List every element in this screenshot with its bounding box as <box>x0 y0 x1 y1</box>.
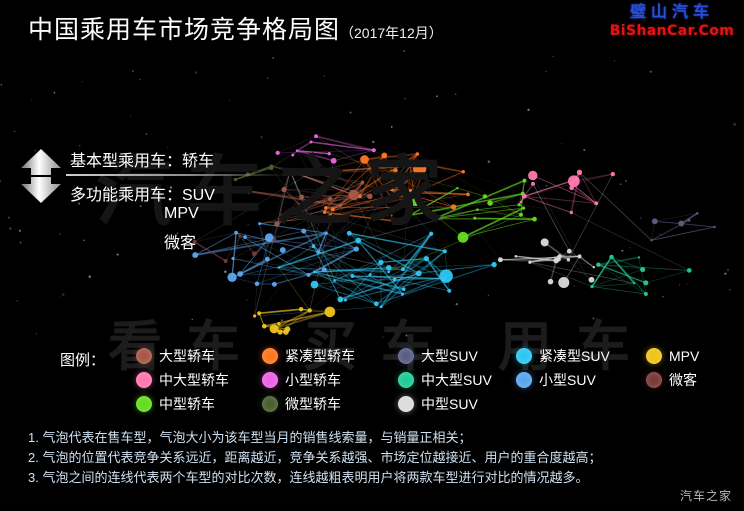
legend-item[interactable]: 中型轿车 <box>136 396 262 412</box>
legend-color-swatch <box>398 348 414 364</box>
legend-color-swatch <box>136 372 152 388</box>
scatter-node[interactable] <box>498 257 503 262</box>
background-speck <box>272 57 274 59</box>
scatter-node[interactable] <box>688 219 691 222</box>
axis-label-top: 基本型乘用车：轿车 <box>70 147 214 171</box>
scatter-node[interactable] <box>324 206 328 210</box>
legend-color-swatch <box>398 396 414 412</box>
scatter-node[interactable] <box>277 329 282 334</box>
background-speck <box>640 217 642 219</box>
legend-item[interactable]: 中大型SUV <box>398 372 516 388</box>
scatter-node[interactable] <box>361 181 365 185</box>
up-down-arrow-icon <box>18 148 64 204</box>
scatter-node[interactable] <box>408 214 412 218</box>
scatter-node[interactable] <box>387 271 390 274</box>
background-speck <box>0 180 1 182</box>
legend-item-label: 微型轿车 <box>285 396 341 412</box>
background-speck <box>89 276 91 278</box>
legend-item-label: 中大型SUV <box>421 372 492 388</box>
scatter-node[interactable] <box>409 194 421 206</box>
legend-item[interactable]: 紧凑型轿车 <box>262 348 398 364</box>
background-speck <box>224 270 226 272</box>
scatter-node[interactable] <box>558 277 569 288</box>
legend-item-label: 小型轿车 <box>285 372 341 388</box>
scatter-node[interactable] <box>439 269 453 283</box>
background-speck <box>488 295 489 296</box>
scatter-node[interactable] <box>461 170 464 173</box>
scatter-node[interactable] <box>331 207 335 211</box>
scatter-node[interactable] <box>227 273 236 282</box>
scatter-node[interactable] <box>644 292 648 296</box>
axis-label-microvan: 微客 <box>164 229 196 253</box>
footnotes: 1. 气泡代表在售车型，气泡大小为该车型当月的销售线索量，与销量正相关；2. 气… <box>28 428 728 488</box>
scatter-node[interactable] <box>355 238 361 244</box>
scatter-node[interactable] <box>590 285 593 288</box>
background-speck <box>372 141 374 143</box>
background-speck <box>546 185 548 187</box>
scatter-node[interactable] <box>325 307 336 318</box>
scatter-node[interactable] <box>314 134 318 138</box>
legend-item-label: 中大型轿车 <box>159 372 229 388</box>
background-speck <box>406 335 408 337</box>
background-speck <box>60 297 61 298</box>
legend-item[interactable]: 小型SUV <box>516 372 646 388</box>
background-speck <box>391 126 393 128</box>
background-speck <box>130 115 131 116</box>
scatter-node[interactable] <box>328 197 333 202</box>
scatter-node[interactable] <box>283 329 289 335</box>
background-speck <box>192 319 194 321</box>
scatter-node[interactable] <box>429 232 433 236</box>
background-speck <box>620 183 622 185</box>
background-speck <box>403 50 405 52</box>
scatter-node[interactable] <box>301 229 306 234</box>
background-speck <box>684 297 685 298</box>
background-speck <box>650 71 652 73</box>
page-title: 中国乘用车市场竞争格局图（2017年12月） <box>28 10 443 46</box>
background-speck <box>281 319 283 321</box>
legend-item-label: 中型轿车 <box>159 396 215 412</box>
scatter-node[interactable] <box>378 260 383 265</box>
legend: 图例： 大型轿车紧凑型轿车大型SUV紧凑型SUVMPV中大型轿车小型轿车中大型S… <box>60 344 740 418</box>
legend-item[interactable]: 紧凑型SUV <box>516 348 646 364</box>
background-speck <box>527 109 529 111</box>
scatter-node[interactable] <box>386 265 392 271</box>
background-speck <box>145 133 147 135</box>
scatter-node[interactable] <box>296 149 299 152</box>
legend-item[interactable]: 微型轿车 <box>262 396 398 412</box>
legend-color-swatch <box>516 372 532 388</box>
scatter-node[interactable] <box>522 207 525 210</box>
scatter-node[interactable] <box>650 239 652 241</box>
axis-label-mpv: MPV <box>164 205 199 223</box>
legend-item[interactable]: MPV <box>646 348 740 364</box>
scatter-node[interactable] <box>556 257 560 261</box>
legend-item[interactable]: 大型SUV <box>398 348 516 364</box>
background-speck <box>455 93 457 95</box>
legend-item-label: 中型SUV <box>421 396 478 412</box>
scatter-node[interactable] <box>528 171 537 180</box>
scatter-node[interactable] <box>262 324 267 329</box>
scatter-node[interactable] <box>523 179 527 183</box>
scatter-node[interactable] <box>388 194 394 200</box>
scatter-node[interactable] <box>633 282 635 284</box>
scatter-node[interactable] <box>405 191 409 195</box>
scatter-node[interactable] <box>518 203 521 206</box>
legend-color-swatch <box>262 372 278 388</box>
background-speck <box>596 203 598 205</box>
scatter-node[interactable] <box>369 273 372 276</box>
scatter-node[interactable] <box>255 281 260 286</box>
scatter-node[interactable] <box>611 172 615 176</box>
scatter-node[interactable] <box>596 263 600 267</box>
background-speck <box>139 79 140 80</box>
axis-annotation: 基本型乘用车：轿车 多功能乘用车：SUV MPV 微客 <box>18 143 288 255</box>
scatter-node[interactable] <box>531 182 535 186</box>
scatter-node[interactable] <box>491 262 496 267</box>
background-speck <box>583 149 585 151</box>
legend-color-swatch <box>398 372 414 388</box>
background-speck <box>195 71 197 73</box>
scatter-node[interactable] <box>328 214 333 219</box>
scatter-node[interactable] <box>253 314 256 317</box>
background-speck <box>81 81 82 82</box>
background-speck <box>382 336 384 338</box>
background-speck <box>295 182 296 183</box>
background-speck <box>553 56 554 57</box>
legend-color-swatch <box>646 372 662 388</box>
footnote-line: 3. 气泡之间的连线代表两个车型的对比次数，连线越粗表明用户将两款车型进行对比的… <box>28 468 728 488</box>
scatter-node[interactable] <box>519 213 523 217</box>
scatter-node[interactable] <box>324 231 328 235</box>
scatter-node[interactable] <box>652 218 658 224</box>
scatter-node[interactable] <box>643 280 648 285</box>
scatter-node[interactable] <box>393 168 398 173</box>
scatter-node[interactable] <box>541 238 549 246</box>
background-speck <box>561 143 562 144</box>
scatter-node[interactable] <box>638 256 640 258</box>
background-speck <box>1 84 3 86</box>
scatter-node[interactable] <box>567 258 570 261</box>
axis-label-bottom: 多功能乘用车：SUV <box>70 181 215 205</box>
background-speck <box>9 227 11 229</box>
legend-item-label: 紧凑型SUV <box>539 348 610 364</box>
scatter-node[interactable] <box>316 250 320 254</box>
scatter-node[interactable] <box>570 182 574 186</box>
scatter-node[interactable] <box>678 221 684 227</box>
background-speck <box>17 300 18 301</box>
legend-items: 大型轿车紧凑型轿车大型SUV紧凑型SUVMPV中大型轿车小型轿车中大型SUV小型… <box>136 344 740 416</box>
legend-item[interactable]: 微客 <box>646 372 740 388</box>
scatter-node[interactable] <box>640 267 645 272</box>
background-speck <box>324 75 325 76</box>
scatter-node[interactable] <box>476 208 479 211</box>
scatter-node[interactable] <box>331 158 337 164</box>
scatter-node[interactable] <box>391 188 394 191</box>
background-speck <box>35 333 37 335</box>
legend-color-swatch <box>646 348 662 364</box>
scatter-node[interactable] <box>589 277 595 283</box>
legend-item[interactable]: 中大型轿车 <box>136 372 262 388</box>
background-speck <box>456 303 458 305</box>
background-speck <box>662 296 663 297</box>
scatter-node[interactable] <box>409 189 412 192</box>
background-speck <box>401 294 403 296</box>
credit-label: 汽车之家 <box>680 487 732 504</box>
footnote-line: 1. 气泡代表在售车型，气泡大小为该车型当月的销售线索量，与销量正相关； <box>28 428 728 448</box>
background-speck <box>267 78 268 79</box>
scatter-node[interactable] <box>349 190 360 201</box>
background-speck <box>309 246 311 248</box>
scatter-node[interactable] <box>696 212 699 215</box>
scatter-node[interactable] <box>270 324 279 333</box>
background-speck <box>621 250 623 252</box>
scatter-node[interactable] <box>237 271 243 277</box>
scatter-node[interactable] <box>456 187 458 189</box>
scatter-node[interactable] <box>528 261 531 264</box>
scatter-node[interactable] <box>451 204 457 210</box>
scatter-node[interactable] <box>309 171 313 175</box>
scatter-node[interactable] <box>466 193 470 197</box>
background-speck <box>247 299 248 300</box>
scatter-node[interactable] <box>443 249 447 253</box>
background-speck <box>14 131 16 133</box>
scatter-node[interactable] <box>347 231 352 236</box>
legend-item[interactable]: 中型SUV <box>398 396 516 412</box>
scatter-node[interactable] <box>574 177 579 182</box>
page-title-text: 中国乘用车市场竞争格局图 <box>28 16 340 44</box>
background-speck <box>679 284 680 285</box>
scatter-node[interactable] <box>328 152 331 155</box>
scatter-node[interactable] <box>277 322 281 326</box>
legend-title: 图例： <box>60 349 105 370</box>
axis-divider-line <box>66 174 288 176</box>
legend-color-swatch <box>516 348 532 364</box>
scatter-node[interactable] <box>577 170 582 175</box>
scatter-node[interactable] <box>487 200 493 206</box>
scatter-node[interactable] <box>570 211 573 214</box>
legend-color-swatch <box>136 396 152 412</box>
scatter-node[interactable] <box>231 257 234 260</box>
scatter-node[interactable] <box>433 217 437 221</box>
background-speck <box>625 180 627 182</box>
background-speck <box>727 269 729 271</box>
scatter-node[interactable] <box>299 307 303 311</box>
scatter-node[interactable] <box>609 255 614 260</box>
background-speck <box>614 60 615 61</box>
background-speck <box>409 210 411 212</box>
scatter-node[interactable] <box>381 152 387 158</box>
background-speck <box>729 289 731 291</box>
background-speck <box>391 215 393 217</box>
scatter-node[interactable] <box>288 169 291 172</box>
background-speck <box>54 92 56 94</box>
legend-item-label: 紧凑型轿车 <box>285 348 355 364</box>
background-speck <box>733 123 736 126</box>
scatter-node[interactable] <box>567 249 572 254</box>
scatter-node[interactable] <box>257 311 261 315</box>
scatter-node[interactable] <box>351 274 355 278</box>
scatter-node[interactable] <box>360 155 369 164</box>
scatter-node[interactable] <box>311 281 319 289</box>
background-speck <box>436 95 438 97</box>
scatter-node[interactable] <box>298 203 302 207</box>
scatter-node[interactable] <box>337 296 343 302</box>
background-speck <box>260 136 263 139</box>
scatter-node[interactable] <box>442 277 446 281</box>
scatter-node[interactable] <box>473 217 476 220</box>
scatter-node[interactable] <box>310 141 313 144</box>
background-speck <box>325 211 326 212</box>
scatter-node[interactable] <box>367 194 373 200</box>
scatter-node[interactable] <box>380 305 383 308</box>
legend-item[interactable]: 大型轿车 <box>136 348 262 364</box>
scatter-node[interactable] <box>354 246 359 251</box>
background-speck <box>629 247 630 248</box>
background-speck <box>488 161 490 163</box>
scatter-node[interactable] <box>423 163 427 167</box>
scatter-node[interactable] <box>338 203 342 207</box>
legend-color-swatch <box>262 396 278 412</box>
scatter-node[interactable] <box>383 187 387 191</box>
scatter-node[interactable] <box>308 308 312 312</box>
scatter-node[interactable] <box>278 266 280 268</box>
scatter-node[interactable] <box>593 266 595 268</box>
chart-poster: 中国乘用车市场竞争格局图（2017年12月） 璧山汽车 BiShanCar.Co… <box>0 0 744 511</box>
legend-color-swatch <box>262 348 278 364</box>
scatter-node[interactable] <box>402 287 406 291</box>
scatter-node[interactable] <box>372 148 376 152</box>
scatter-node[interactable] <box>393 277 397 281</box>
scatter-node[interactable] <box>299 195 304 200</box>
background-speck <box>349 111 351 113</box>
scatter-node[interactable] <box>578 254 582 258</box>
background-speck <box>546 71 547 72</box>
scatter-node[interactable] <box>307 273 311 277</box>
legend-item-label: 小型SUV <box>539 372 596 388</box>
scatter-node[interactable] <box>272 282 277 287</box>
scatter-node[interactable] <box>522 194 527 199</box>
brand-name-en: BiShanCar.Com <box>606 22 738 40</box>
scatter-node[interactable] <box>318 190 324 196</box>
scatter-node[interactable] <box>322 267 327 272</box>
scatter-node[interactable] <box>424 256 429 261</box>
legend-item-label: 大型SUV <box>421 348 478 364</box>
scatter-node[interactable] <box>409 160 413 164</box>
background-speck <box>724 273 726 275</box>
scatter-node[interactable] <box>312 244 316 248</box>
scatter-node[interactable] <box>402 191 405 194</box>
scatter-node[interactable] <box>532 217 537 222</box>
legend-item[interactable]: 小型轿车 <box>262 372 398 388</box>
legend-item-label: 大型轿车 <box>159 348 215 364</box>
background-speck <box>229 100 230 101</box>
scatter-node[interactable] <box>515 255 518 258</box>
scatter-node[interactable] <box>344 298 347 301</box>
legend-item-label: MPV <box>669 348 699 364</box>
scatter-node[interactable] <box>313 271 316 274</box>
footnote-line: 2. 气泡的位置代表竞争关系远近，距离越近，竞争关系越强、市场定位越接近、用户的… <box>28 448 728 468</box>
brand-name-cn: 璧山汽车 <box>606 2 738 22</box>
scatter-node[interactable] <box>520 201 522 203</box>
background-speck <box>62 293 65 296</box>
scatter-node[interactable] <box>416 271 422 277</box>
legend-item-label: 微客 <box>669 372 697 388</box>
scatter-node[interactable] <box>458 232 469 243</box>
background-speck <box>330 287 331 288</box>
scatter-node[interactable] <box>483 194 487 198</box>
scatter-node[interactable] <box>447 289 451 293</box>
brand-logo[interactable]: 璧山汽车 BiShanCar.Com <box>606 2 738 46</box>
background-speck <box>132 70 133 71</box>
page-title-date: （2017年12月） <box>340 25 443 41</box>
scatter-node[interactable] <box>333 279 336 282</box>
scatter-node[interactable] <box>569 185 574 190</box>
background-speck <box>31 99 32 100</box>
background-speck <box>687 283 688 284</box>
scatter-node[interactable] <box>416 152 420 156</box>
scatter-node[interactable] <box>374 301 379 306</box>
background-speck <box>8 217 10 219</box>
scatter-node[interactable] <box>392 219 395 222</box>
background-speck <box>659 234 660 235</box>
background-speck <box>404 98 406 100</box>
scatter-node[interactable] <box>548 279 554 285</box>
scatter-node[interactable] <box>265 257 270 262</box>
scatter-node[interactable] <box>291 154 294 157</box>
scatter-node[interactable] <box>401 267 405 271</box>
background-speck <box>573 285 575 287</box>
legend-color-swatch <box>136 348 152 364</box>
scatter-node[interactable] <box>409 164 413 168</box>
scatter-node[interactable] <box>713 226 715 228</box>
scatter-node[interactable] <box>687 268 692 273</box>
background-speck <box>592 317 594 319</box>
scatter-node[interactable] <box>224 259 228 263</box>
